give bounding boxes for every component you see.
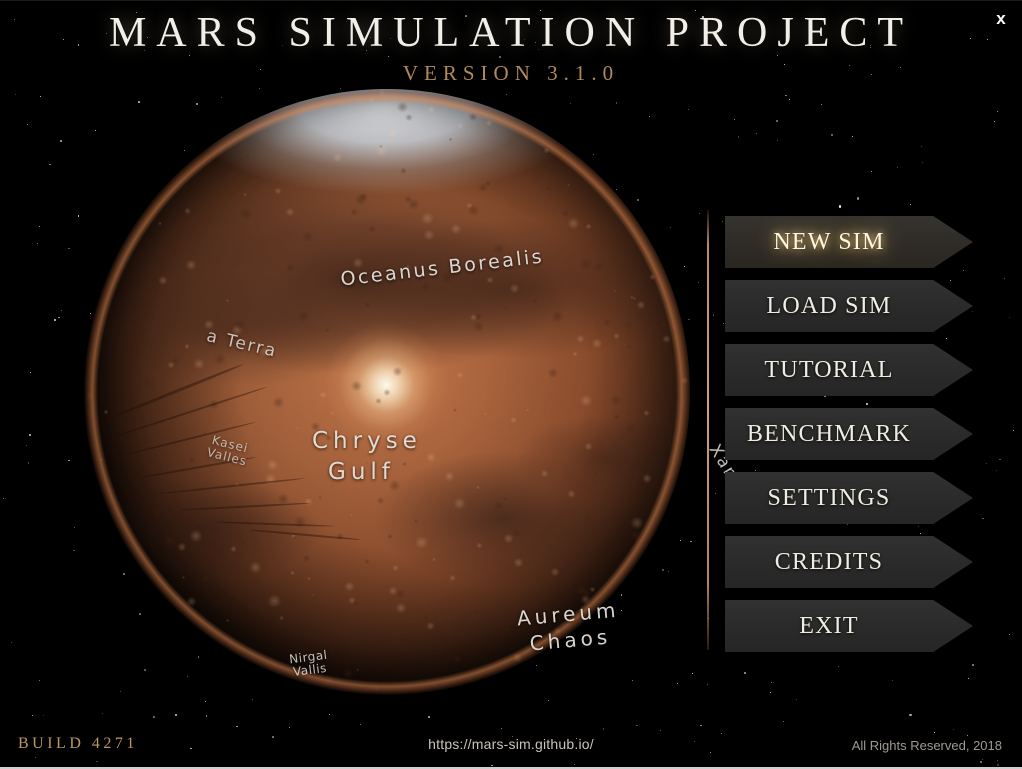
star — [428, 716, 430, 718]
close-icon[interactable]: x — [988, 7, 1014, 31]
crater-speckle — [241, 541, 246, 545]
star — [909, 714, 911, 716]
crater-speckle — [366, 462, 369, 464]
crater-speckle — [230, 546, 237, 551]
crater-speckle — [272, 397, 285, 408]
crater-speckle — [532, 298, 538, 303]
star — [722, 221, 723, 222]
star — [289, 727, 290, 728]
crater-speckle — [373, 686, 379, 691]
crater-speckle — [470, 314, 478, 321]
star — [43, 715, 44, 716]
star — [1009, 317, 1010, 318]
crater-speckle — [547, 368, 559, 378]
crater-speckle — [472, 321, 485, 331]
crater-speckle — [348, 597, 357, 604]
crater-speckle — [427, 106, 436, 114]
crater-speckle — [448, 138, 452, 142]
star — [771, 682, 772, 683]
menu-item-tutorial[interactable]: TUTORIAL — [725, 344, 973, 396]
crater-speckle — [189, 530, 203, 542]
star — [30, 372, 31, 373]
star — [744, 672, 746, 674]
star — [934, 732, 935, 733]
star — [980, 761, 982, 763]
star — [776, 120, 778, 122]
star — [994, 121, 995, 122]
star — [28, 462, 30, 464]
crater-speckle — [226, 619, 229, 622]
crater-speckle — [509, 284, 520, 293]
crater-speckle — [488, 265, 495, 271]
crater-speckle — [492, 244, 506, 255]
star — [972, 664, 974, 666]
crater-speckle — [420, 213, 434, 225]
mars-globe: Oceanus Borealis a Terra ChryseGulf Kase… — [84, 89, 690, 695]
crater-speckle — [387, 129, 399, 139]
crater-speckle — [486, 277, 494, 284]
crater-speckle — [274, 188, 282, 195]
crater-speckle — [603, 319, 611, 326]
star — [777, 140, 778, 141]
crater-speckle — [626, 344, 633, 350]
crater-speckle — [325, 328, 330, 332]
crater-speckle — [680, 377, 689, 384]
menu-item-label: TUTORIAL — [725, 344, 933, 396]
canyon-streak — [180, 502, 310, 511]
star — [922, 162, 923, 163]
star — [690, 541, 692, 543]
crater-speckle — [388, 587, 398, 595]
crater-speckle — [630, 296, 634, 299]
canyon-streak — [250, 529, 360, 540]
crater-speckle — [332, 153, 343, 162]
crater-speckle — [407, 199, 420, 210]
crater-speckle — [384, 267, 391, 273]
crater-speckle — [244, 340, 247, 343]
crater-speckle — [456, 372, 464, 379]
crater-speckle — [504, 627, 510, 632]
crater-speckle — [630, 530, 641, 539]
crater-speckle — [545, 186, 552, 191]
menu-item-label: EXIT — [725, 600, 933, 652]
crater-speckle — [426, 453, 437, 462]
crater-speckle — [100, 458, 104, 461]
menu-item-label: BENCHMARK — [725, 408, 933, 460]
copyright-notice: All Rights Reserved, 2018 — [852, 738, 1002, 753]
crater-speckle — [290, 571, 295, 575]
star — [74, 527, 75, 528]
star — [54, 319, 56, 321]
crater-speckle — [444, 472, 455, 481]
crater-speckle — [624, 423, 638, 435]
star — [73, 550, 75, 552]
crater-speckle — [392, 367, 403, 376]
crater-speckle — [453, 498, 466, 509]
main-menu: NEW SIMLOAD SIMTUTORIALBENCHMARKSETTINGS… — [725, 216, 975, 664]
star — [574, 764, 575, 765]
crater-speckle — [374, 145, 389, 157]
crater-speckle — [249, 562, 262, 573]
star — [997, 111, 998, 112]
star — [852, 136, 853, 137]
star — [603, 728, 605, 730]
star — [15, 94, 16, 95]
crater-speckle — [296, 427, 299, 430]
crater-speckle — [554, 628, 561, 634]
crater-speckle — [396, 102, 409, 113]
crater-speckle — [414, 519, 419, 523]
crater-speckle — [513, 558, 524, 567]
crater-speckle — [350, 514, 353, 516]
crater-speckle — [474, 313, 483, 321]
crater-speckle — [304, 498, 313, 505]
canyon-streak — [110, 386, 268, 439]
crater-speckle — [576, 335, 585, 343]
star — [636, 725, 638, 727]
crater-speckle — [239, 208, 253, 219]
crater-speckle — [259, 346, 273, 357]
crater-speckle — [453, 408, 458, 412]
star — [857, 197, 859, 199]
star — [698, 282, 699, 283]
crater-speckle — [636, 301, 647, 310]
star — [982, 759, 983, 760]
crater-speckle — [158, 222, 162, 225]
crater-speckle — [344, 582, 355, 591]
crater-speckle — [660, 322, 667, 328]
star — [692, 673, 694, 675]
crater-speckle — [581, 589, 591, 597]
crater-speckle — [450, 224, 462, 234]
star — [102, 713, 103, 714]
crater-speckle — [543, 148, 550, 153]
star — [968, 678, 969, 679]
star — [997, 764, 999, 766]
crater-speckle — [476, 486, 480, 489]
crater-speckle — [293, 516, 308, 528]
star — [953, 729, 955, 731]
crater-speckle — [318, 496, 322, 499]
crater-speckle — [352, 601, 358, 606]
crater-speckle — [423, 230, 435, 240]
star — [491, 765, 493, 767]
crater-speckle — [331, 485, 333, 487]
star — [1013, 430, 1014, 431]
star — [61, 310, 63, 312]
crater-speckle — [426, 622, 435, 629]
crater-speckle — [526, 409, 528, 411]
star — [999, 459, 1001, 461]
crater-speckle — [466, 203, 473, 209]
crater-speckle — [354, 194, 368, 206]
crater-speckle — [186, 597, 197, 606]
crater-speckle — [154, 509, 161, 515]
star — [921, 146, 922, 147]
crater-speckle — [642, 474, 652, 482]
crater-speckle — [279, 616, 284, 620]
star — [205, 701, 206, 702]
crater-speckle — [623, 321, 634, 330]
star — [26, 445, 27, 446]
crater-speckle — [503, 534, 514, 543]
star — [756, 133, 757, 134]
canyon-streak — [120, 421, 256, 457]
crater-speckle — [307, 577, 311, 580]
star — [986, 463, 987, 464]
footer-bar: BUILD 4271 https://mars-sim.github.io/ A… — [0, 735, 1022, 757]
canyon-streak — [214, 521, 334, 527]
star — [1004, 278, 1005, 279]
crater-speckle — [468, 113, 478, 121]
menu-item-label: SETTINGS — [725, 472, 933, 524]
crater-speckle — [614, 290, 616, 292]
menu-item-label: LOAD SIM — [725, 280, 933, 332]
crater-speckle — [579, 395, 592, 406]
crater-speckle — [478, 184, 488, 192]
crater-speckle — [331, 412, 335, 415]
crater-speckle — [440, 271, 455, 283]
star — [699, 213, 700, 214]
crater-speckle — [103, 410, 108, 414]
crater-speckle — [184, 344, 190, 349]
crater-speckle — [243, 193, 247, 196]
crater-speckle — [572, 352, 577, 356]
star — [329, 714, 330, 715]
crater-speckle — [369, 98, 374, 102]
crater-speckle — [350, 381, 363, 392]
crater-speckle — [395, 589, 407, 599]
crater-speckle — [540, 470, 549, 477]
star — [39, 680, 40, 681]
crater-speckle — [336, 533, 344, 540]
crater-speckle — [209, 516, 212, 518]
crater-speckle — [485, 120, 493, 126]
crater-speckle — [402, 462, 407, 466]
crater-speckle — [503, 497, 507, 500]
star — [982, 518, 984, 520]
app-version-label: VERSION 3.1.0 — [0, 61, 1022, 86]
crater-speckle — [364, 559, 370, 564]
crater-speckle — [291, 534, 296, 538]
crater-speckle — [233, 320, 246, 330]
crater-speckle — [613, 333, 620, 339]
canyon-streak — [156, 477, 305, 495]
star — [37, 243, 38, 244]
crater-speckle — [567, 184, 570, 186]
star — [785, 95, 787, 97]
star — [660, 730, 661, 731]
crater-speckle — [375, 398, 382, 404]
star — [839, 205, 841, 207]
crater-speckle — [164, 536, 176, 546]
crater-speckle — [173, 251, 177, 255]
star — [770, 692, 771, 693]
crater-speckle — [589, 587, 596, 593]
crater-speckle — [378, 90, 386, 97]
crater-speckle — [404, 196, 412, 203]
star — [548, 700, 549, 701]
crater-speckle — [379, 145, 383, 148]
crater-speckle — [613, 414, 620, 420]
crater-speckle — [449, 575, 456, 581]
star — [3, 498, 4, 499]
crater-speckle — [485, 181, 491, 186]
crater-speckle — [193, 359, 205, 369]
crater-speckle — [174, 223, 178, 226]
menu-item-new-sim[interactable]: NEW SIM — [725, 216, 973, 268]
crater-speckle — [650, 411, 663, 422]
crater-speckle — [325, 435, 333, 441]
crater-speckle — [392, 565, 400, 571]
crater-speckle — [503, 306, 508, 310]
crater-speckle — [593, 472, 598, 476]
star — [734, 119, 735, 120]
star — [78, 215, 80, 217]
crater-speckle — [551, 311, 564, 322]
crater-speckle — [135, 350, 142, 356]
star — [700, 725, 702, 727]
star — [996, 470, 997, 471]
crater-speckle — [213, 353, 227, 365]
star — [910, 204, 911, 205]
star — [206, 715, 208, 717]
crater-speckle — [177, 543, 187, 551]
crater-speckle — [264, 474, 277, 484]
star — [796, 699, 797, 700]
crater-speckle — [467, 205, 481, 216]
star — [897, 167, 898, 168]
crater-speckle — [182, 576, 185, 578]
menu-item-settings[interactable]: SETTINGS — [725, 472, 973, 524]
star — [68, 460, 70, 462]
crater-speckle — [172, 357, 180, 364]
crater-speckle — [235, 483, 239, 486]
crater-speckle — [342, 669, 353, 678]
star — [27, 124, 28, 125]
crater-speckle — [246, 601, 259, 612]
crater-speckle — [580, 595, 591, 604]
star — [713, 314, 715, 316]
star — [789, 99, 790, 100]
crater-speckle — [209, 502, 211, 504]
splash-screen: Oceanus Borealis a Terra ChryseGulf Kase… — [0, 0, 1022, 769]
crater-speckle — [293, 536, 296, 539]
crater-speckle — [649, 274, 656, 280]
menu-item-load-sim[interactable]: LOAD SIM — [725, 280, 973, 332]
crater-speckle — [188, 457, 196, 463]
crater-speckle — [400, 168, 408, 174]
crater-speckle — [231, 325, 243, 335]
crater-speckle — [388, 480, 401, 491]
crater-speckle — [395, 603, 407, 613]
star — [58, 317, 60, 319]
crater-speckle — [201, 575, 210, 582]
crater-speckle — [184, 208, 191, 214]
crater-speckle — [359, 193, 368, 200]
crater-speckle — [356, 669, 359, 672]
crater-speckle — [310, 422, 321, 431]
crater-speckle — [364, 302, 371, 308]
crater-speckle — [633, 297, 636, 300]
crater-speckle — [422, 615, 429, 621]
crater-speckle — [662, 335, 671, 342]
crater-speckle — [610, 395, 622, 405]
crater-speckle — [406, 265, 411, 269]
crater-speckle — [301, 232, 314, 243]
star — [60, 140, 62, 142]
crater-speckle — [591, 339, 603, 349]
crater-speckle — [203, 431, 207, 434]
crater-speckle — [493, 502, 503, 511]
crater-speckle — [561, 210, 570, 217]
crater-speckle — [208, 400, 220, 410]
crater-speckle — [158, 276, 168, 285]
star — [738, 136, 740, 138]
star — [783, 721, 784, 722]
star — [40, 96, 41, 97]
star — [1009, 634, 1010, 635]
canyon-streak — [103, 363, 243, 422]
menu-item-credits[interactable]: CREDITS — [725, 536, 973, 588]
crater-speckle — [287, 307, 289, 309]
star — [721, 733, 722, 734]
crater-speckle — [226, 299, 229, 301]
crater-speckle — [85, 392, 94, 400]
menu-item-exit[interactable]: EXIT — [725, 600, 973, 652]
star — [997, 760, 998, 761]
crater-speckle — [414, 537, 428, 549]
crater-speckle — [297, 311, 310, 322]
star — [68, 248, 70, 250]
star — [821, 104, 822, 105]
crater-speckle — [473, 608, 481, 614]
crater-speckle — [383, 389, 391, 396]
star — [723, 323, 724, 324]
star — [39, 226, 40, 227]
crater-speckle — [567, 186, 577, 194]
star — [49, 164, 51, 166]
star — [871, 171, 872, 172]
star — [96, 761, 98, 763]
crater-speckle — [352, 258, 364, 268]
crater-speckle — [569, 581, 573, 584]
crater-speckle — [457, 123, 464, 129]
star — [831, 134, 833, 136]
star — [838, 666, 839, 667]
crater-speckle — [476, 543, 483, 549]
star — [707, 684, 708, 685]
crater-speckle — [319, 392, 327, 398]
star — [501, 728, 502, 729]
star — [175, 714, 177, 716]
star — [715, 493, 716, 494]
crater-speckle — [368, 226, 376, 233]
star — [360, 724, 361, 725]
crater-speckle — [350, 209, 358, 215]
crater-speckle — [679, 388, 683, 391]
star — [29, 434, 31, 436]
crater-speckle — [585, 224, 592, 229]
app-title: MARS SIMULATION PROJECT — [0, 9, 1022, 57]
crater-speckle — [484, 413, 487, 415]
menu-divider — [707, 210, 709, 650]
crater-speckle — [576, 586, 587, 595]
menu-item-benchmark[interactable]: BENCHMARK — [725, 408, 973, 460]
mars-globe-sphere — [84, 89, 690, 695]
crater-speckle — [510, 417, 517, 423]
star — [236, 726, 238, 728]
